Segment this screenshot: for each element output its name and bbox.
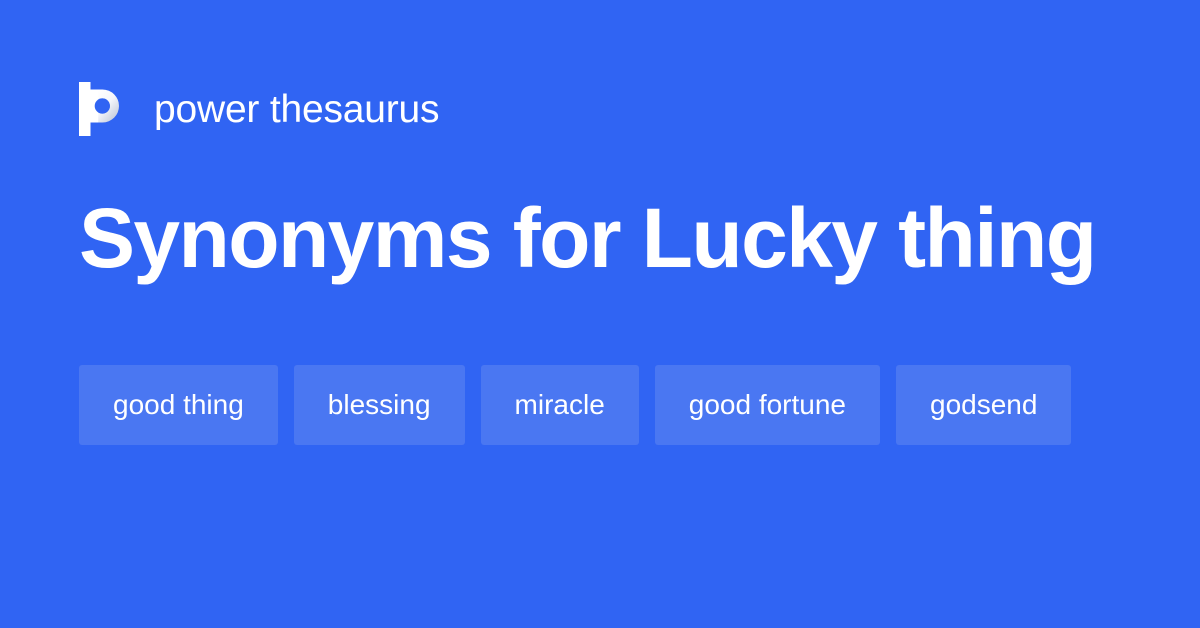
synonym-tag[interactable]: blessing bbox=[294, 365, 465, 445]
synonyms-share-card: power thesaurus Synonyms for Lucky thing… bbox=[0, 0, 1200, 628]
synonym-tag[interactable]: good fortune bbox=[655, 365, 880, 445]
synonym-tag[interactable]: godsend bbox=[896, 365, 1071, 445]
synonym-tag[interactable]: good thing bbox=[79, 365, 278, 445]
brand-name: power thesaurus bbox=[154, 90, 439, 129]
page-title: Synonyms for Lucky thing bbox=[79, 196, 1139, 282]
synonym-tag[interactable]: miracle bbox=[481, 365, 639, 445]
synonym-tag-list: good thing blessing miracle good fortune… bbox=[79, 365, 1119, 445]
power-thesaurus-logo-icon bbox=[79, 82, 125, 136]
brand-header[interactable]: power thesaurus bbox=[79, 82, 439, 136]
